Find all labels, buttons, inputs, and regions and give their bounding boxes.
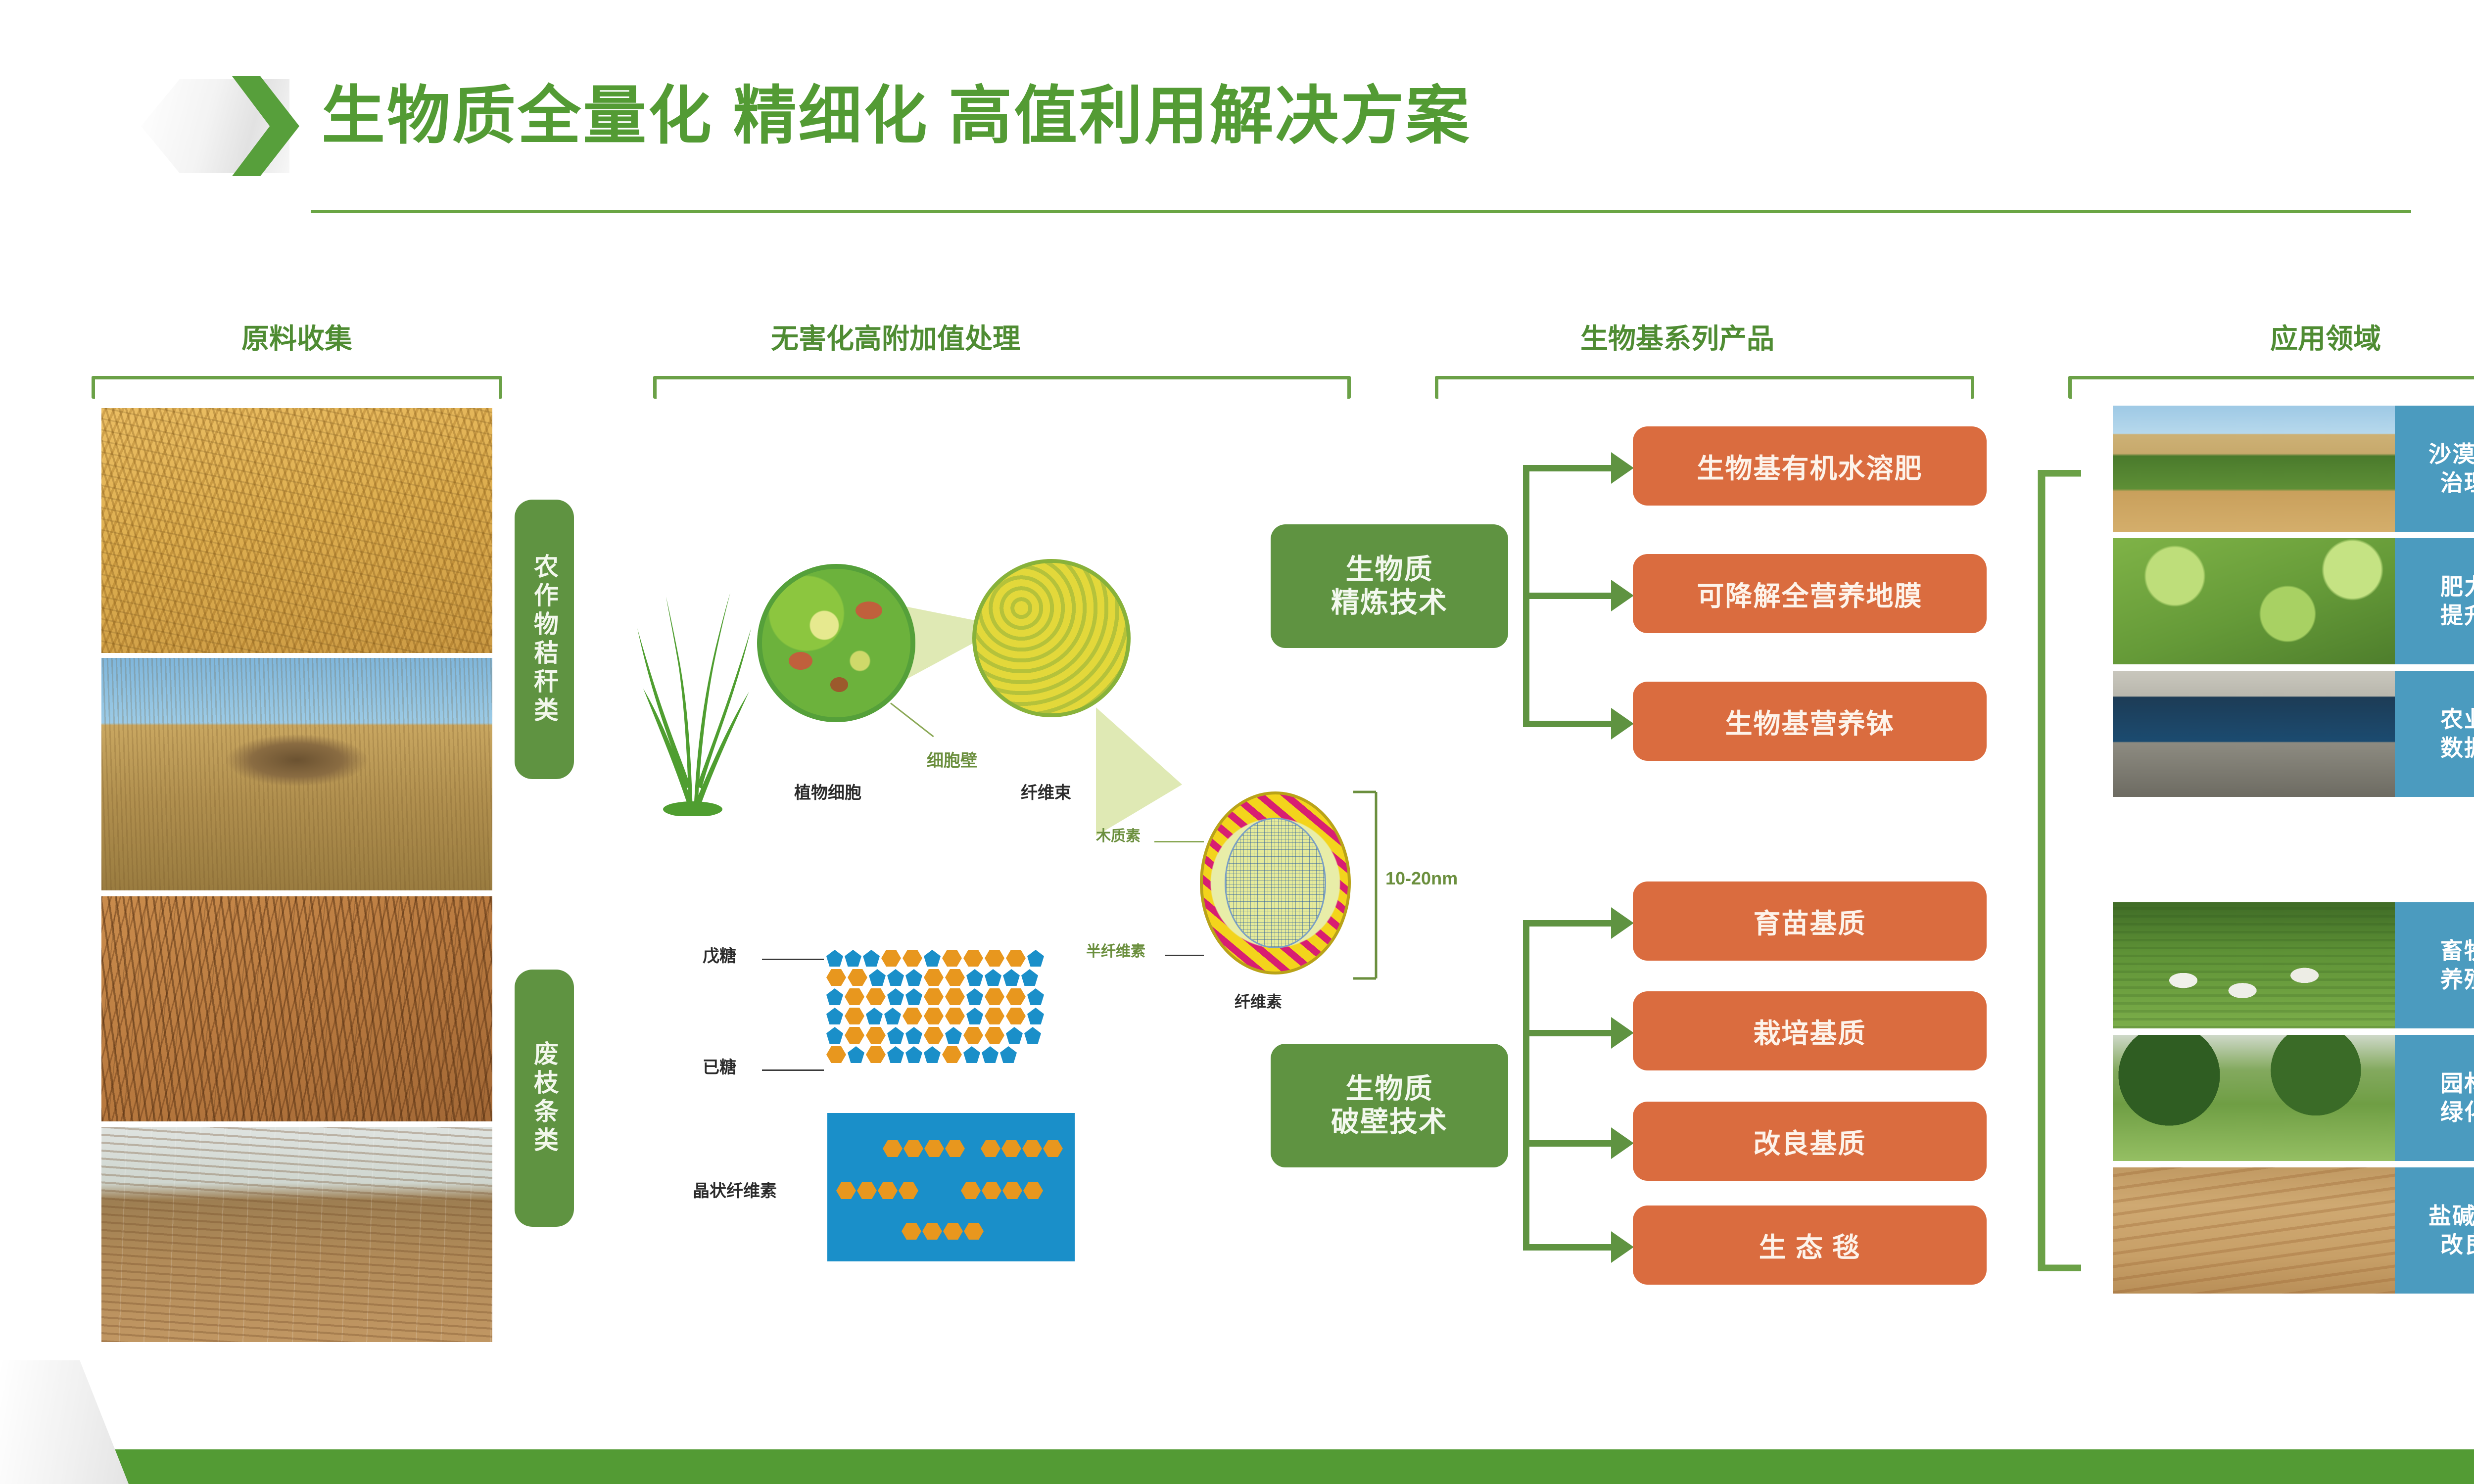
scale-bracket-icon	[1353, 790, 1383, 980]
application-label-fertility: 肥力 提升	[2395, 538, 2474, 664]
connector-breaking-to-products	[1523, 920, 1647, 1247]
pruned-branches-photo	[101, 896, 492, 1121]
tech-breaking-line1: 生物质	[1346, 1072, 1433, 1106]
fiber-cross-section-illustration	[1200, 791, 1351, 974]
crystalline-cellulose-label: 晶状纤维素	[693, 1177, 777, 1202]
app-desert-line2: 治理	[2440, 469, 2474, 498]
title-divider	[311, 210, 2411, 213]
crystalline-cellulose-illustration	[827, 1113, 1075, 1261]
page-header: 生物质全量化 精细化 高值利用解决方案	[0, 0, 2474, 232]
product-box-cultivation-substrate[interactable]: 栽培基质	[1633, 991, 1987, 1070]
hexose-leader-line	[762, 1069, 824, 1071]
hemicellulose-leader-line	[1165, 955, 1204, 956]
app-saline-line1: 盐碱地	[2428, 1202, 2474, 1231]
application-label-saline: 盐碱地 改良	[2395, 1167, 2474, 1294]
application-row-saline[interactable]: 盐碱地 改良	[2113, 1167, 2474, 1294]
lignin-label: 木质素	[1096, 824, 1141, 845]
product-box-water-soluble-fertilizer[interactable]: 生物基有机水溶肥	[1633, 426, 1987, 506]
pentose-label: 戊糖	[703, 942, 736, 967]
app-fertility-line2: 提升	[2440, 602, 2474, 630]
lignin-leader-line	[1154, 841, 1204, 842]
fiber-bundle-illustration	[972, 559, 1131, 717]
application-row-data[interactable]: 农业 数据	[2113, 671, 2474, 797]
product-box-biodegradable-mulch-film[interactable]: 可降解全营养地膜	[1633, 554, 1987, 633]
tech-breaking-line2: 破壁技术	[1331, 1106, 1448, 1139]
agriculture-data-photo	[2113, 671, 2395, 797]
sugar-chain-illustration	[826, 950, 1044, 1066]
section-bracket-processing	[653, 376, 1351, 399]
landscape-greening-photo	[2113, 1035, 2395, 1161]
app-livestock-line2: 养殖	[2440, 966, 2474, 994]
section-title-raw-material: 原料收集	[148, 317, 445, 357]
app-data-line1: 农业	[2440, 705, 2474, 734]
pentose-leader-line	[762, 959, 824, 960]
saline-land-photo	[2113, 1167, 2395, 1294]
tech-refining-line1: 生物质	[1346, 553, 1433, 586]
application-row-desert[interactable]: 沙漠化 治理	[2113, 406, 2474, 532]
application-row-fertility[interactable]: 肥力 提升	[2113, 538, 2474, 664]
orchard-pruning-photo	[101, 1127, 492, 1342]
plant-cell-label: 植物细胞	[794, 779, 861, 803]
desert-restoration-photo	[2113, 406, 2395, 532]
zoom-beam-3	[1096, 707, 1239, 836]
product-box-ecological-blanket[interactable]: 生 态 毯	[1633, 1206, 1987, 1285]
app-saline-line2: 改良	[2440, 1231, 2474, 1259]
fiber-bundle-label: 纤维束	[1021, 779, 1071, 803]
footer-wedge-decoration	[0, 1360, 129, 1484]
product-box-improvement-substrate[interactable]: 改良基质	[1633, 1102, 1987, 1181]
cellulose-label: 纤维素	[1235, 989, 1282, 1012]
hexagon-arrow-icon	[141, 79, 289, 173]
app-livestock-line1: 畜牧	[2440, 937, 2474, 966]
section-bracket-products	[1435, 376, 1974, 399]
app-greening-line2: 绿化	[2440, 1098, 2474, 1127]
application-label-desert: 沙漠化 治理	[2395, 406, 2474, 532]
application-label-greening: 园林 绿化	[2395, 1035, 2474, 1161]
page-title: 生物质全量化 精细化 高值利用解决方案	[322, 82, 1471, 151]
hemicellulose-label: 半纤维素	[1086, 939, 1145, 961]
section-bracket-applications	[2068, 376, 2474, 399]
corn-stalk-field-photo	[101, 408, 492, 653]
section-title-products: 生物基系列产品	[1430, 317, 1925, 357]
product-box-seedling-substrate[interactable]: 育苗基质	[1633, 881, 1987, 961]
application-row-greening[interactable]: 园林 绿化	[2113, 1035, 2474, 1161]
application-row-livestock[interactable]: 畜牧 养殖	[2113, 902, 2474, 1028]
app-desert-line1: 沙漠化	[2428, 440, 2474, 469]
scale-value-label: 10-20nm	[1385, 868, 1458, 889]
tech-refining-line2: 精炼技术	[1331, 586, 1448, 619]
applications-bracket	[2036, 470, 2085, 1271]
application-label-livestock: 畜牧 养殖	[2395, 902, 2474, 1028]
plant-cell-illustration	[757, 564, 915, 722]
section-title-processing: 无害化高附加值处理	[584, 317, 1207, 357]
footer-bar	[0, 1449, 2474, 1484]
vegetable-field-photo	[2113, 538, 2395, 664]
section-bracket-raw-material	[92, 376, 502, 399]
product-box-nutrient-pot[interactable]: 生物基营养钵	[1633, 682, 1987, 761]
app-fertility-line1: 肥力	[2440, 573, 2474, 602]
hexose-label: 已糖	[703, 1054, 736, 1078]
connector-refining-to-products	[1523, 465, 1647, 772]
cell-wall-leader-line	[890, 702, 934, 737]
straw-bale-field-photo	[101, 658, 492, 890]
tech-box-cell-wall-breaking[interactable]: 生物质 破壁技术	[1271, 1044, 1508, 1167]
grazing-sheep-photo	[2113, 902, 2395, 1028]
application-label-data: 农业 数据	[2395, 671, 2474, 797]
tech-box-refining[interactable]: 生物质 精炼技术	[1271, 524, 1508, 648]
crop-straw-label: 农作物秸秆类	[515, 500, 574, 779]
waste-branch-label: 废枝条类	[515, 970, 574, 1227]
section-title-applications: 应用领域	[2123, 317, 2474, 357]
cell-wall-label: 细胞壁	[927, 747, 977, 771]
app-greening-line1: 园林	[2440, 1069, 2474, 1098]
grass-plant-icon	[618, 554, 767, 816]
app-data-line2: 数据	[2440, 734, 2474, 763]
